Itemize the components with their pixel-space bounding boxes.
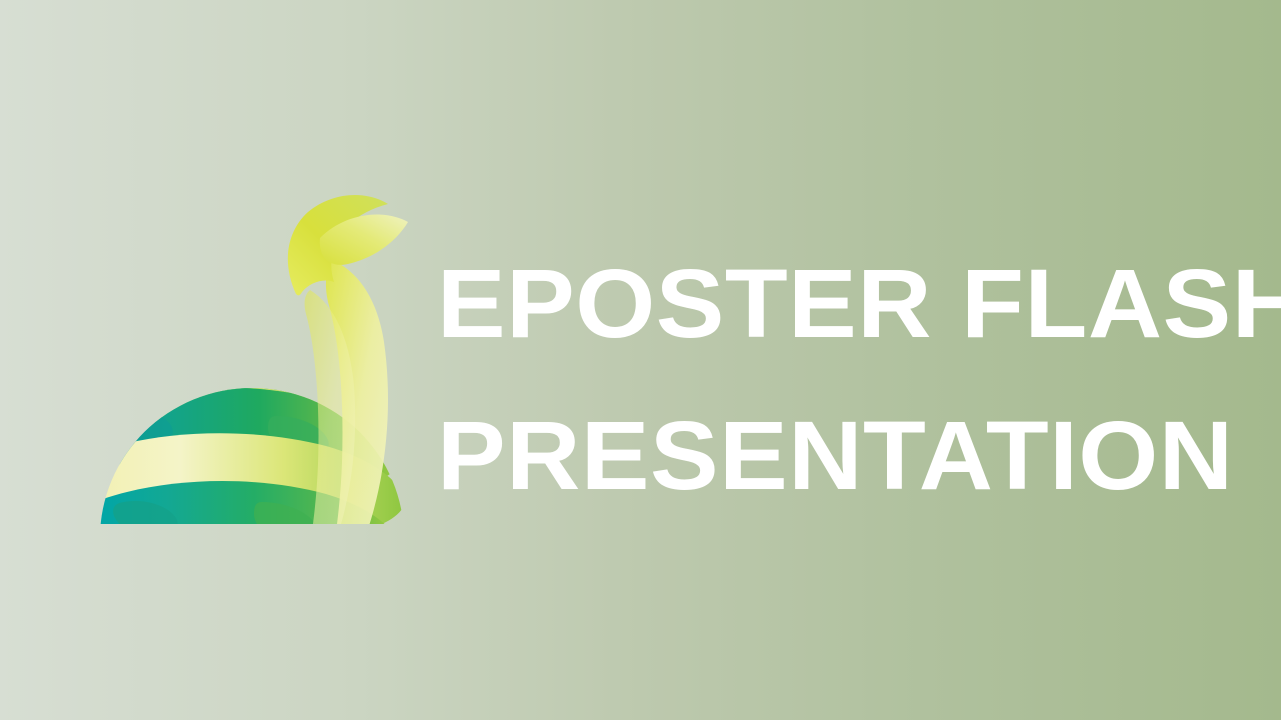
page-title-line-2: PRESENTATION bbox=[437, 380, 1281, 532]
slide-canvas: EPOSTER FLASH PRESENTATION bbox=[0, 0, 1281, 720]
globe-ribbons bbox=[96, 195, 408, 524]
page-title-line-1: EPOSTER FLASH bbox=[437, 228, 1281, 380]
title-block: EPOSTER FLASH PRESENTATION bbox=[437, 228, 1267, 532]
globe-ribbon-leaf-logo bbox=[96, 186, 408, 524]
continent-shape bbox=[195, 305, 258, 347]
ribbon-band-1 bbox=[170, 239, 246, 310]
